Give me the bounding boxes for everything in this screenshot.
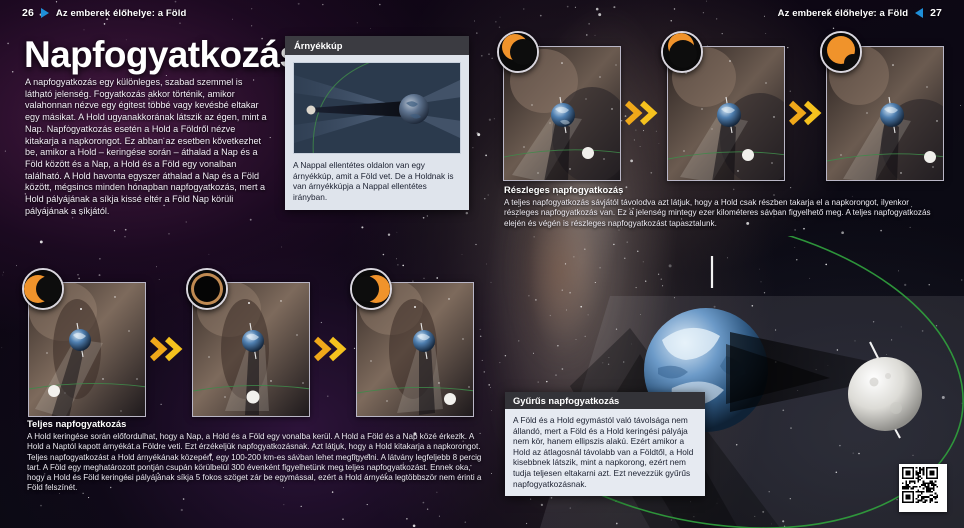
header-right: Az emberek élőhelye: a Föld 27: [778, 7, 942, 19]
annular-eclipse-body-wrap: A Föld és a Hold egymástól való távolság…: [505, 409, 705, 496]
eclipse-phase-badge-1: [497, 31, 539, 73]
sequence-arrow-3: [150, 336, 186, 362]
total-eclipse-section: Teljes napfogyatkozás A Hold keringése s…: [27, 418, 487, 494]
header-left-title: Az emberek élőhelye: a Föld: [56, 8, 186, 19]
eclipse-phase-badge-3: [820, 31, 862, 73]
total-eclipse-heading: Teljes napfogyatkozás: [27, 418, 487, 429]
shadow-cone-diagram: [293, 62, 461, 154]
lead-paragraph: A napfogyatkozás egy különleges, szabad …: [25, 77, 267, 217]
total-eclipse-badge-1: [22, 268, 64, 310]
shadow-cone-card: Árnyékkúp: [285, 36, 469, 210]
partial-eclipse-heading: Részleges napfogyatkozás: [504, 184, 942, 195]
arrow-left-icon: [915, 8, 923, 18]
sequence-arrow-1: [625, 100, 661, 126]
arrow-right-icon: [41, 8, 49, 18]
page-number-left: 26: [22, 7, 34, 19]
total-eclipse-badge-2: [186, 268, 228, 310]
header-left: 26 Az emberek élőhelye: a Föld: [22, 7, 186, 19]
total-eclipse-badge-3: [350, 268, 392, 310]
sequence-arrow-4: [314, 336, 350, 362]
shadow-cone-caption: A Nappal ellentétes oldalon van egy árny…: [293, 160, 461, 202]
partial-eclipse-section: Részleges napfogyatkozás A teljes napfog…: [504, 184, 942, 229]
annular-eclipse-body: A Föld és a Hold egymástól való távolság…: [513, 415, 697, 489]
sequence-arrow-2: [789, 100, 825, 126]
page-title: Napfogyatkozás: [24, 34, 299, 76]
annular-eclipse-heading: Gyűrűs napfogyatkozás: [505, 392, 705, 409]
shadow-cone-heading: Árnyékkúp: [285, 36, 469, 55]
partial-eclipse-body: A teljes napfogyatkozás sávjától távolod…: [504, 198, 942, 229]
qr-code[interactable]: [899, 464, 947, 512]
page-number-right: 27: [930, 7, 942, 19]
eclipse-phase-badge-2: [661, 31, 703, 73]
annular-eclipse-card: Gyűrűs napfogyatkozás A Föld és a Hold e…: [505, 392, 705, 496]
textbook-spread: 26 Az emberek élőhelye: a Föld Az embere…: [0, 0, 964, 528]
shadow-cone-body: A Nappal ellentétes oldalon van egy árny…: [285, 55, 469, 210]
qr-code-glyph: [902, 467, 938, 503]
header-right-title: Az emberek élőhelye: a Föld: [778, 8, 908, 19]
total-eclipse-body: A Hold keringése során előfordulhat, hog…: [27, 432, 487, 494]
